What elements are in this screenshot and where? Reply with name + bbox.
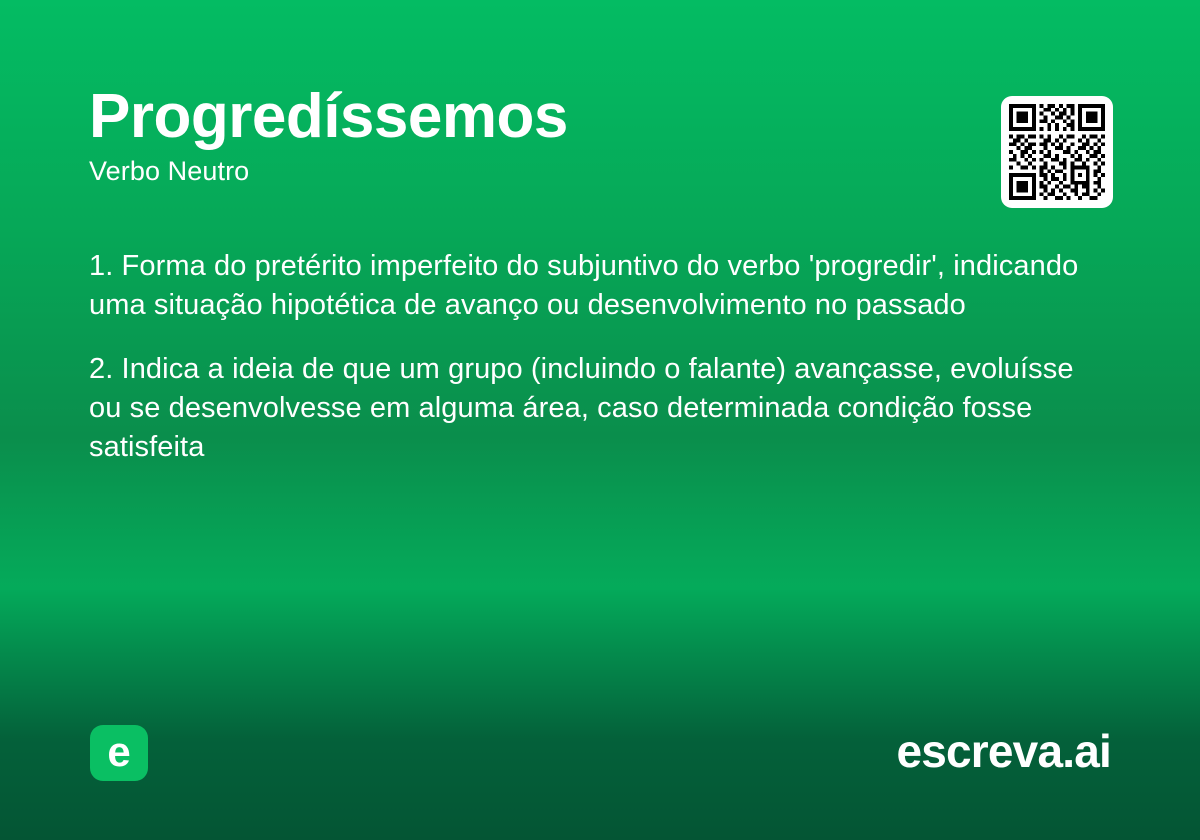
qr-code-icon[interactable] xyxy=(1001,96,1113,208)
dictionary-card: Progredíssemos Verbo Neutro xyxy=(0,0,1200,840)
qr-code-matrix xyxy=(1009,104,1105,200)
word-class-label: Verbo Neutro xyxy=(89,155,969,187)
word-title: Progredíssemos xyxy=(89,84,969,149)
escreva-logo-icon[interactable]: e xyxy=(90,725,148,781)
brand-name: escreva.ai xyxy=(896,726,1111,777)
definition-item: 1. Forma do pretérito imperfeito do subj… xyxy=(89,247,1109,325)
logo-letter: e xyxy=(107,731,130,773)
definition-item: 2. Indica a ideia de que um grupo (inclu… xyxy=(89,350,1109,467)
definitions-list: 1. Forma do pretérito imperfeito do subj… xyxy=(89,247,1109,467)
card-header: Progredíssemos Verbo Neutro xyxy=(89,84,969,187)
